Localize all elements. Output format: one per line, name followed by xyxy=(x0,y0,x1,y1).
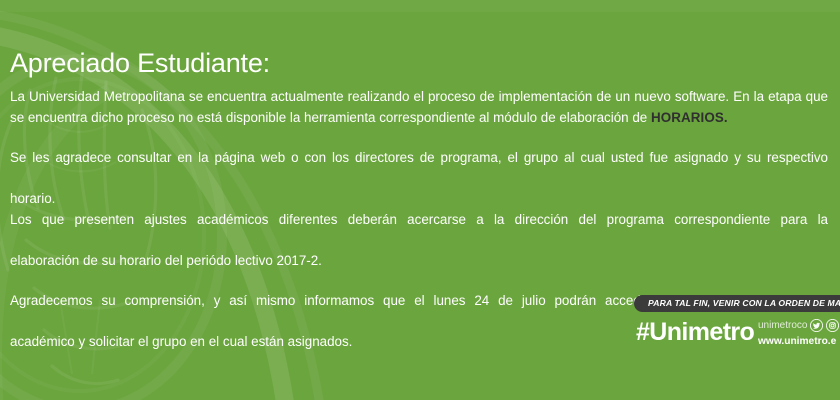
hashtag-unimetro: #Unimetro xyxy=(636,318,754,346)
social-block: unimetroco www.unimetro.e xyxy=(758,318,840,348)
status-badge: PARA TAL FIN, VENIR CON LA ORDEN DE MATR… xyxy=(634,295,840,312)
twitter-icon[interactable] xyxy=(810,319,823,332)
top-highlight-band xyxy=(0,0,840,12)
website-url[interactable]: www.unimetro.e xyxy=(758,335,840,348)
banner-footer: PARA TAL FIN, VENIR CON LA ORDEN DE MATR… xyxy=(0,290,840,400)
social-row: unimetroco xyxy=(758,318,840,333)
page-title: Apreciado Estudiante: xyxy=(10,47,830,79)
paragraph-consultar-line-1: Se les agradece consultar en la página w… xyxy=(10,150,828,186)
paragraph-implementation: La Universidad Metropolitana se encuentr… xyxy=(10,87,828,128)
paragraph-consultar-line-3: Los que presenten ajustes académicos dif… xyxy=(10,212,828,248)
paragraph-consultar-line-4: elaboración de su horario del periódo le… xyxy=(10,253,322,268)
paragraph-consultar-line-2: horario. xyxy=(10,191,55,206)
social-handle: unimetroco xyxy=(758,320,807,332)
announcement-banner: Apreciado Estudiante: La Universidad Met… xyxy=(0,0,840,400)
paragraph-consultar: Se les agradece consultar en la página w… xyxy=(10,148,828,271)
instagram-icon[interactable] xyxy=(826,319,839,332)
horarios-emphasis: HORARIOS. xyxy=(651,110,728,125)
